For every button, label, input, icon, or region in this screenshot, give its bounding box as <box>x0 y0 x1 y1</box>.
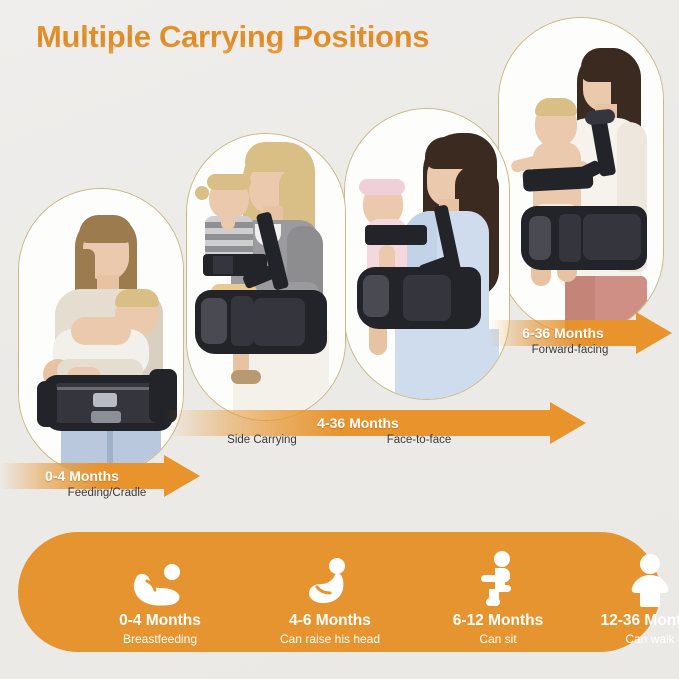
side-carrying-illustration <box>187 134 345 420</box>
face-to-face-photo <box>344 108 510 400</box>
baby-sitting-icon <box>475 545 521 607</box>
milestone-months: 0-4 Months <box>119 612 201 630</box>
arrow-side-and-face: 4-36 Months <box>166 410 586 436</box>
milestone-desc: Can raise his head <box>280 632 380 646</box>
forward-facing-photo <box>498 17 664 335</box>
caption-face-to-face: Face-to-face <box>387 434 452 446</box>
milestone-can-walk: 12-36 Months Can walk <box>550 532 679 652</box>
milestone-months: 12-36 Months <box>600 612 679 630</box>
milestone-months: 4-6 Months <box>289 612 371 630</box>
milestone-desc: Can walk <box>625 632 674 646</box>
caption-feeding-cradle: Feeding/Cradle <box>68 487 147 499</box>
caption-side-carrying: Side Carrying <box>227 434 297 446</box>
side-carrying-photo <box>186 133 346 421</box>
arrow-head <box>550 402 586 444</box>
face-to-face-illustration <box>345 109 509 399</box>
caption-forward-facing: Forward-facing <box>532 344 609 356</box>
baby-standing-icon <box>624 545 676 607</box>
infographic-root: Multiple Carrying Positions <box>0 0 679 679</box>
arrow-range-label: 4-36 Months <box>166 410 550 436</box>
milestones-panel: 0-4 Months Breastfeeding 4-6 Months Can … <box>18 532 660 652</box>
arrow-range-label: 0-4 Months <box>0 463 164 489</box>
arrow-head <box>164 455 200 497</box>
feeding-cradle-illustration <box>19 189 183 475</box>
baby-lying-icon <box>132 545 188 607</box>
baby-raise-head-icon <box>305 545 355 607</box>
arrow-range-label: 6-36 Months <box>490 320 636 346</box>
arrow-feeding-cradle: 0-4 Months <box>0 463 200 489</box>
arrow-head <box>636 312 672 354</box>
feeding-cradle-photo <box>18 188 184 476</box>
forward-facing-illustration <box>499 18 663 334</box>
milestone-months: 6-12 Months <box>453 612 543 630</box>
milestone-desc: Breastfeeding <box>123 632 197 646</box>
milestone-desc: Can sit <box>479 632 516 646</box>
page-title: Multiple Carrying Positions <box>36 19 429 55</box>
arrow-forward-facing: 6-36 Months <box>490 320 672 346</box>
